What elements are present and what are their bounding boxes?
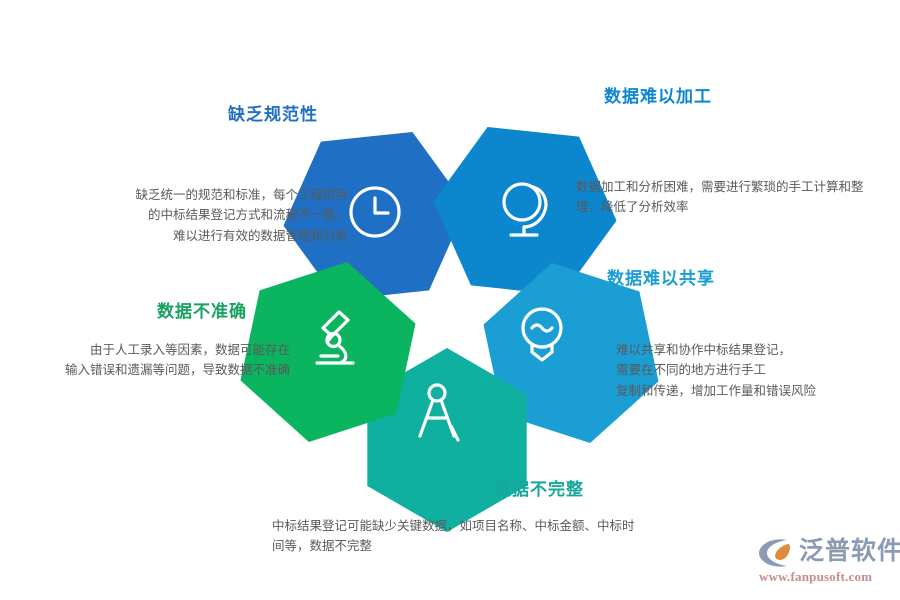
- heading-inaccurate: 数据不准确: [157, 303, 247, 320]
- description-inaccurate: 由于人工录入等因素，数据可能存在 输入错误和遗漏等问题，导致数据不准确: [18, 340, 290, 381]
- logo-mark-icon: [757, 538, 797, 568]
- hexagon-flower-diagram: [0, 0, 900, 600]
- heading-hard-to-process: 数据难以加工: [604, 88, 712, 105]
- description-lack-standard: 缺乏统一的规范和标准，每个工程项目 的中标结果登记方式和流程不一致， 难以进行有…: [58, 185, 348, 246]
- company-logo: 泛普软件 www.fanpusoft.com: [757, 538, 895, 590]
- description-hard-to-process: 数据加工和分析困难，需要进行繁琐的手工计算和整 理，降低了分析效率: [576, 177, 892, 218]
- heading-incomplete: 数据不完整: [494, 481, 584, 498]
- logo-website-url: www.fanpusoft.com: [759, 569, 872, 585]
- description-incomplete: 中标结果登记可能缺少关键数据，如项目名称、中标金额、中标时 间等，数据不完整: [272, 516, 674, 557]
- heading-hard-to-share: 数据难以共享: [607, 270, 715, 287]
- description-hard-to-share: 难以共享和协作中标结果登记， 需要在不同的地方进行手工 复制和传递，增加工作量和…: [616, 340, 896, 401]
- heading-lack-standard: 缺乏规范性: [228, 106, 318, 123]
- logo-company-name: 泛普软件: [799, 539, 900, 564]
